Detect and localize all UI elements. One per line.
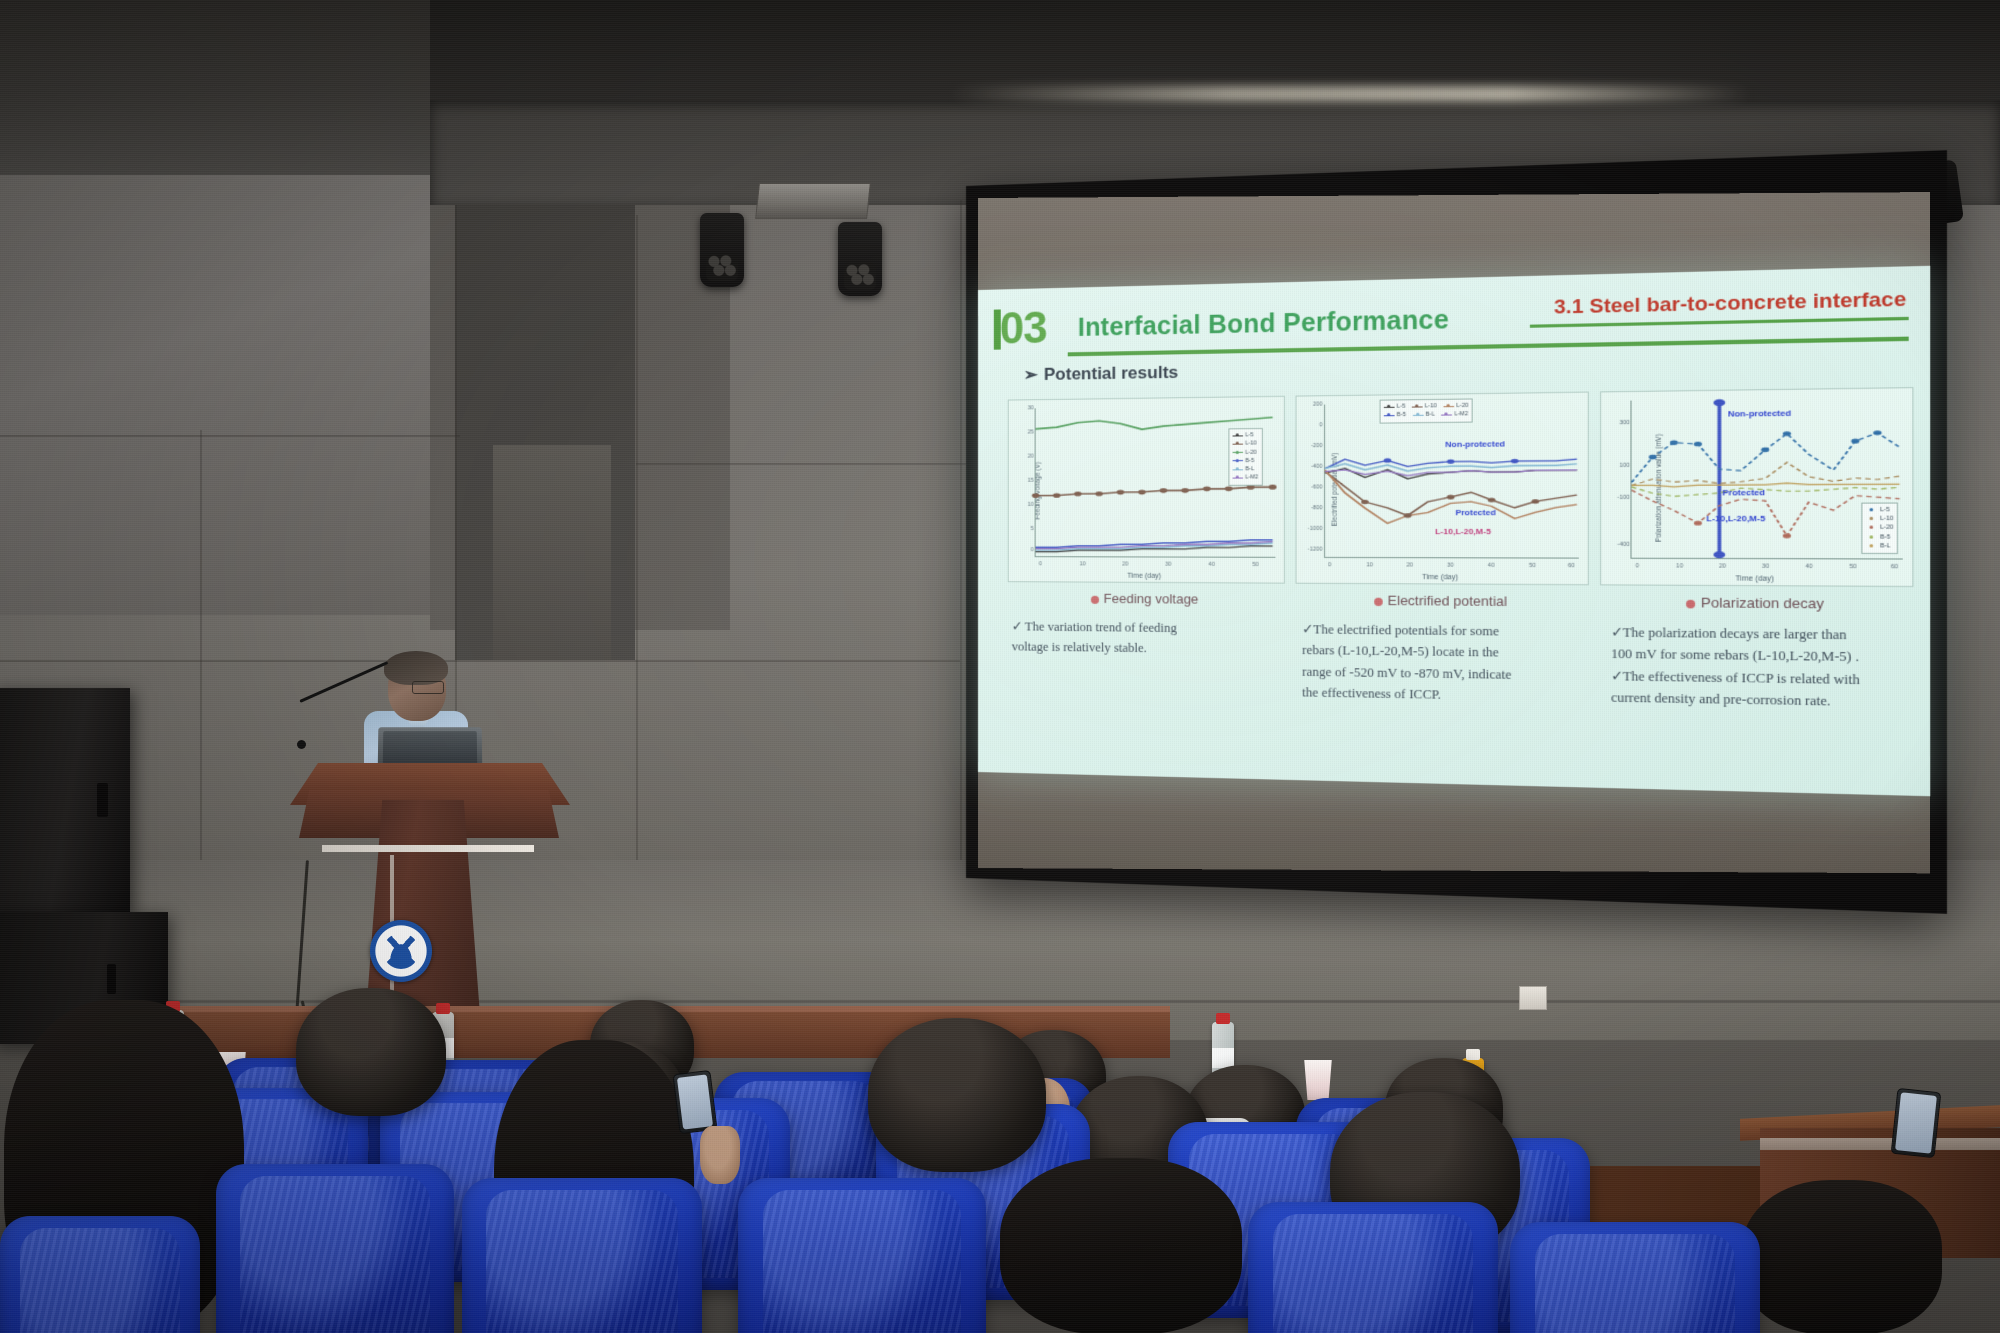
chart3-ytick: -400: [1609, 542, 1629, 548]
chart2-ytick: -400: [1304, 464, 1323, 470]
bullet-arrow-icon: ➢: [1024, 365, 1038, 384]
chart-electrified-potential[interactable]: Electrified potential (mV) 200 0 -200 -4…: [1295, 392, 1589, 586]
chart3-xtick: 20: [1719, 563, 1726, 569]
seat[interactable]: [462, 1178, 702, 1333]
section-bullet: ➢Potential results: [1024, 363, 1179, 386]
seat[interactable]: [1510, 1222, 1760, 1333]
seat[interactable]: [1248, 1202, 1498, 1333]
chart2-annotation-nonprotected: Non-protected: [1445, 439, 1505, 449]
smartphone[interactable]: [672, 1070, 717, 1134]
chart2-xtick: 30: [1447, 562, 1454, 568]
chart1-xtick: 20: [1122, 561, 1128, 567]
chart3-annotation-protected: Protected: [1722, 488, 1765, 498]
audience-head-front: [1000, 1158, 1242, 1333]
caption-dot-icon: [1374, 597, 1383, 605]
chart1-xtick: 50: [1252, 562, 1258, 568]
wall-seam: [636, 463, 966, 465]
chart3-ytick: 100: [1609, 463, 1629, 470]
podium-trim: [322, 845, 534, 852]
chart3-xtick: 60: [1891, 564, 1898, 571]
chart1-xtick: 30: [1165, 562, 1171, 568]
chart3-legend-item: B-L: [1866, 542, 1893, 551]
note-line: current density and pre-corrosion rate.: [1611, 686, 1918, 713]
stage-light-icon: [838, 222, 882, 296]
seat[interactable]: [216, 1164, 454, 1333]
caption-feeding-voltage: Feeding voltage: [1008, 590, 1285, 617]
presenter-glasses-icon: [412, 681, 444, 694]
ceiling-light-glow: [950, 86, 1750, 102]
chart3-legend-item: B-5: [1866, 533, 1893, 542]
chart3-annotation-rebars: L-10,L-20,M-5: [1706, 513, 1765, 523]
chart3-legend-item: L-5: [1866, 506, 1893, 515]
wall-outlet: [1519, 986, 1547, 1010]
air-vent: [755, 183, 871, 219]
chart2-ytick: 0: [1304, 422, 1323, 428]
audience-head-front: [1742, 1180, 1942, 1333]
chart2-axes: 200 0 -200 -400 -600 -800 -1000 -1200 0 …: [1324, 401, 1579, 558]
chart1-legend-item: L-20: [1233, 448, 1259, 457]
chart1-ytick: 5: [1016, 526, 1034, 532]
chart2-xtick: 50: [1529, 563, 1536, 569]
slide-content: 03 Interfacial Bond Performance 3.1 Stee…: [978, 266, 1930, 796]
wall-seam: [0, 435, 460, 437]
note-line: the effectiveness of ICCP.: [1302, 682, 1591, 708]
wall-seam: [0, 660, 960, 662]
chart3-legend-item: L-10: [1866, 515, 1893, 524]
chart3-axes: 300 100 -100 -400 0 10 20 30 40 50 60: [1631, 397, 1903, 559]
chart1-ytick: 10: [1016, 502, 1034, 508]
audience-head-front: [296, 988, 446, 1116]
chart3-legend-item: L-20: [1866, 524, 1893, 533]
wall-seam: [200, 430, 202, 860]
chart2-xlabel: Time (day): [1296, 573, 1588, 582]
chart3-xtick: 0: [1636, 563, 1639, 569]
chart1-ytick: 30: [1016, 405, 1034, 411]
note-column-3: ✓The polarization decays are larger than…: [1611, 622, 1918, 714]
podium-emblem-icon: [370, 920, 432, 982]
chart1-legend: L-5 L-10 L-20 B-5 B-L L-M2: [1229, 428, 1263, 485]
seat[interactable]: [738, 1178, 986, 1333]
projection-screen[interactable]: 03 Interfacial Bond Performance 3.1 Stee…: [978, 266, 1930, 796]
chart3-legend: L-5 L-10 L-20 B-5 B-L: [1861, 502, 1898, 554]
chart1-ytick: 25: [1016, 429, 1034, 435]
seat[interactable]: [0, 1216, 200, 1333]
tablet-device[interactable]: [1891, 1088, 1942, 1158]
note-column-1: ✓ The variation trend of feeding voltage…: [1012, 616, 1283, 702]
chart1-xtick: 40: [1209, 562, 1215, 568]
note-column-2: ✓The electrified potentials for some reb…: [1302, 619, 1591, 708]
chart1-legend-item: L-5: [1233, 431, 1259, 440]
chart-polarization-decay[interactable]: Polarization attenuation value (mV) 300 …: [1600, 387, 1913, 587]
audience-head-front: [868, 1018, 1046, 1172]
stage-light-icon: [700, 213, 744, 287]
chart3-ytick: -100: [1609, 495, 1629, 501]
bottle-cap: [1216, 1013, 1230, 1024]
caption-dot-icon: [1091, 595, 1099, 603]
chart-feeding-voltage[interactable]: Feeding Voltage (V) 30 25 20 15 10 5 0 0…: [1008, 396, 1285, 584]
chart3-xlabel: Time (day): [1602, 575, 1913, 584]
chart2-xtick: 10: [1366, 562, 1373, 568]
chart2-xtick: 40: [1488, 563, 1495, 569]
wall-seam: [960, 200, 962, 860]
chart2-xtick: 20: [1406, 562, 1413, 568]
chart2-annotation-rebars: L-10,L-20,M-5: [1435, 526, 1491, 535]
chart1-xlabel: Time (day): [1009, 572, 1284, 580]
chart2-xtick: 0: [1328, 562, 1331, 568]
microphone-icon: [297, 740, 306, 749]
pa-speaker-upper: [0, 688, 130, 913]
chart1-ytick: 15: [1016, 478, 1034, 484]
chart2-ytick: -800: [1304, 505, 1323, 511]
chart2-annotation-protected: Protected: [1455, 508, 1495, 518]
chart2-ytick: -1200: [1304, 547, 1323, 553]
caption-polarization-decay: Polarization decay: [1600, 594, 1913, 622]
caption-electrified-potential: Electrified potential: [1295, 592, 1589, 619]
chart1-ytick: 0: [1016, 547, 1034, 553]
laptop-screen: [383, 731, 477, 766]
chart2-ytick: 200: [1304, 401, 1323, 407]
chart2-ytick: -600: [1304, 484, 1323, 490]
chart3-xtick: 30: [1762, 563, 1769, 570]
chart1-legend-item: L-M2: [1233, 474, 1259, 483]
chart1-xtick: 0: [1039, 561, 1042, 567]
chart3-xtick: 10: [1676, 563, 1683, 569]
chart1-axes: 30 25 20 15 10 5 0 0 10 20 30 40 50: [1035, 405, 1275, 558]
bottle-cap: [1466, 1049, 1480, 1060]
charts-row: Feeding Voltage (V) 30 25 20 15 10 5 0 0…: [1008, 387, 1914, 587]
chart3-annotation-nonprotected: Non-protected: [1728, 408, 1791, 418]
chart2-xtick: 60: [1568, 563, 1575, 569]
chapter-number: 03: [1000, 306, 1047, 351]
chart1-legend-item: B-L: [1233, 465, 1259, 474]
chart2-legend: L-5 L-10 L-20 B-5 B-L L-M2: [1380, 398, 1473, 423]
chart3-xtick: 50: [1849, 564, 1856, 571]
caption-dot-icon: [1686, 599, 1695, 608]
chart3-xtick: 40: [1806, 564, 1813, 571]
bottle-cap: [436, 1003, 450, 1014]
audience-desk-right-trim: [1760, 1138, 2000, 1150]
presenter-hair: [384, 651, 448, 685]
wall-seam: [636, 215, 638, 860]
chart2-ytick: -200: [1304, 443, 1323, 449]
section-bullet-label: Potential results: [1044, 363, 1178, 384]
conference-photo: 03 Interfacial Bond Performance 3.1 Stee…: [0, 0, 2000, 1333]
chart1-legend-item: L-10: [1233, 440, 1259, 449]
chart3-ytick: 300: [1609, 420, 1629, 427]
chart2-ytick: -1000: [1304, 526, 1323, 532]
audience-hand: [700, 1126, 740, 1184]
slide-subtitle: 3.1 Steel bar-to-concrete interface: [1554, 288, 1906, 320]
chart1-xtick: 10: [1079, 561, 1085, 567]
slide-header: 03 Interfacial Bond Performance 3.1 Stee…: [994, 282, 1914, 360]
wall-column-light: [493, 445, 611, 660]
slide-notes-row: ✓ The variation trend of feeding voltage…: [1012, 616, 1919, 713]
note-line: voltage is relatively stable.: [1012, 637, 1283, 661]
chart1-legend-item: B-5: [1233, 457, 1259, 466]
chart1-ytick: 20: [1016, 454, 1034, 460]
chart2-legend-item: B-5 B-L L-M2: [1384, 410, 1468, 420]
slide-title: Interfacial Bond Performance: [1078, 305, 1449, 343]
